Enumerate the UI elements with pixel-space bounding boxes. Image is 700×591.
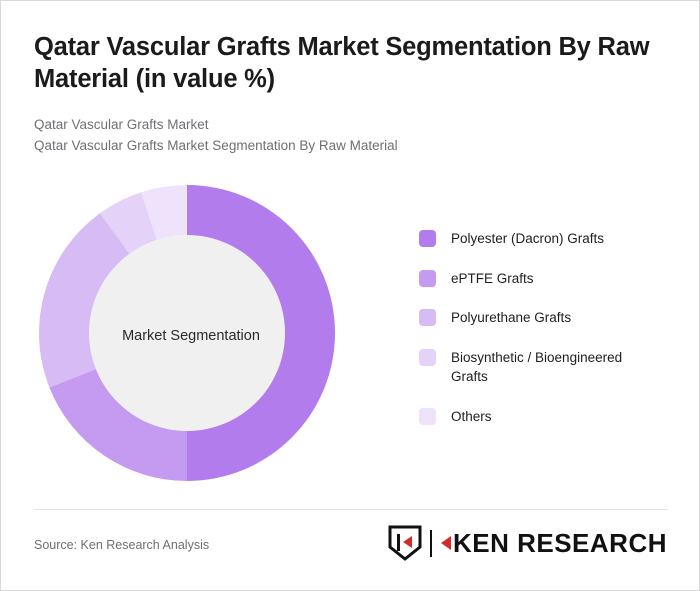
legend-swatch-icon <box>419 309 436 326</box>
subtitle-segmentation: Qatar Vascular Grafts Market Segmentatio… <box>34 135 654 156</box>
legend-swatch-icon <box>419 230 436 247</box>
chart-legend: Polyester (Dacron) GraftsePTFE GraftsPol… <box>419 229 669 446</box>
logo-divider-bar <box>430 530 432 557</box>
page-title: Qatar Vascular Grafts Market Segmentatio… <box>34 31 654 95</box>
legend-swatch-icon <box>419 408 436 425</box>
legend-label: Biosynthetic / Bioengineered Grafts <box>451 348 656 387</box>
legend-swatch-icon <box>419 349 436 366</box>
subtitle-market: Qatar Vascular Grafts Market <box>34 114 654 135</box>
legend-swatch-icon <box>419 270 436 287</box>
chart-card: Qatar Vascular Grafts Market Segmentatio… <box>0 0 700 591</box>
logo-k-accent-icon <box>439 530 452 556</box>
donut-svg <box>34 177 344 492</box>
donut-chart: Market Segmentation <box>34 177 344 492</box>
legend-item[interactable]: Polyester (Dacron) Grafts <box>419 229 669 249</box>
legend-item[interactable]: Biosynthetic / Bioengineered Grafts <box>419 348 669 387</box>
legend-label: ePTFE Grafts <box>451 269 534 289</box>
subtitle-group: Qatar Vascular Grafts Market Qatar Vascu… <box>34 114 654 157</box>
legend-item[interactable]: Polyurethane Grafts <box>419 308 669 328</box>
logo-wordmark: KEN RESEARCH <box>453 530 667 556</box>
legend-label: Polyurethane Grafts <box>451 308 571 328</box>
donut-center-hole <box>89 235 285 431</box>
ken-research-logo: KEN RESEARCH <box>388 525 667 561</box>
legend-item[interactable]: Others <box>419 407 669 427</box>
legend-item[interactable]: ePTFE Grafts <box>419 269 669 289</box>
logo-shield-icon <box>388 525 422 561</box>
legend-label: Polyester (Dacron) Grafts <box>451 229 604 249</box>
legend-label: Others <box>451 407 492 427</box>
footer-divider <box>34 509 668 510</box>
source-note: Source: Ken Research Analysis <box>34 538 209 552</box>
